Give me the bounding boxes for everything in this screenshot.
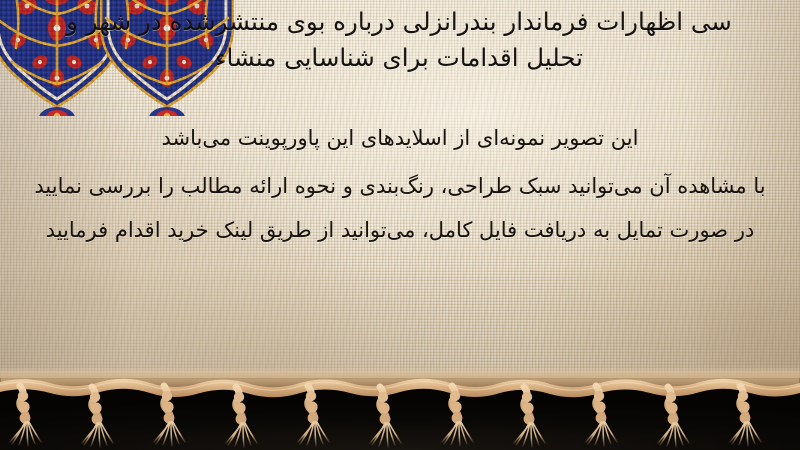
title-line-1: سی اظهارات فرماندار بندرانزلی درباره بوی… [0, 4, 798, 40]
text-layer: سی اظهارات فرماندار بندرانزلی درباره بوی… [0, 0, 800, 378]
slide-title: سی اظهارات فرماندار بندرانزلی درباره بوی… [0, 4, 800, 76]
body-line-2: با مشاهده آن می‌توانید سبک طراحی، رنگ‌بن… [0, 164, 800, 208]
body-line-1: این تصویر نمونه‌ای از اسلایدهای این پاور… [0, 116, 800, 160]
slide-canvas: سی اظهارات فرماندار بندرانزلی درباره بوی… [0, 0, 800, 450]
slide-body: این تصویر نمونه‌ای از اسلایدهای این پاور… [0, 116, 800, 252]
carpet-fringe [0, 366, 800, 450]
title-line-2: تحلیل اقدامات برای شناسایی منشاء [0, 40, 798, 76]
fringe-tassels-svg [0, 366, 800, 450]
tassel-group [10, 386, 761, 447]
body-line-3: در صورت تمایل به دریافت فایل کامل، می‌تو… [0, 208, 800, 252]
